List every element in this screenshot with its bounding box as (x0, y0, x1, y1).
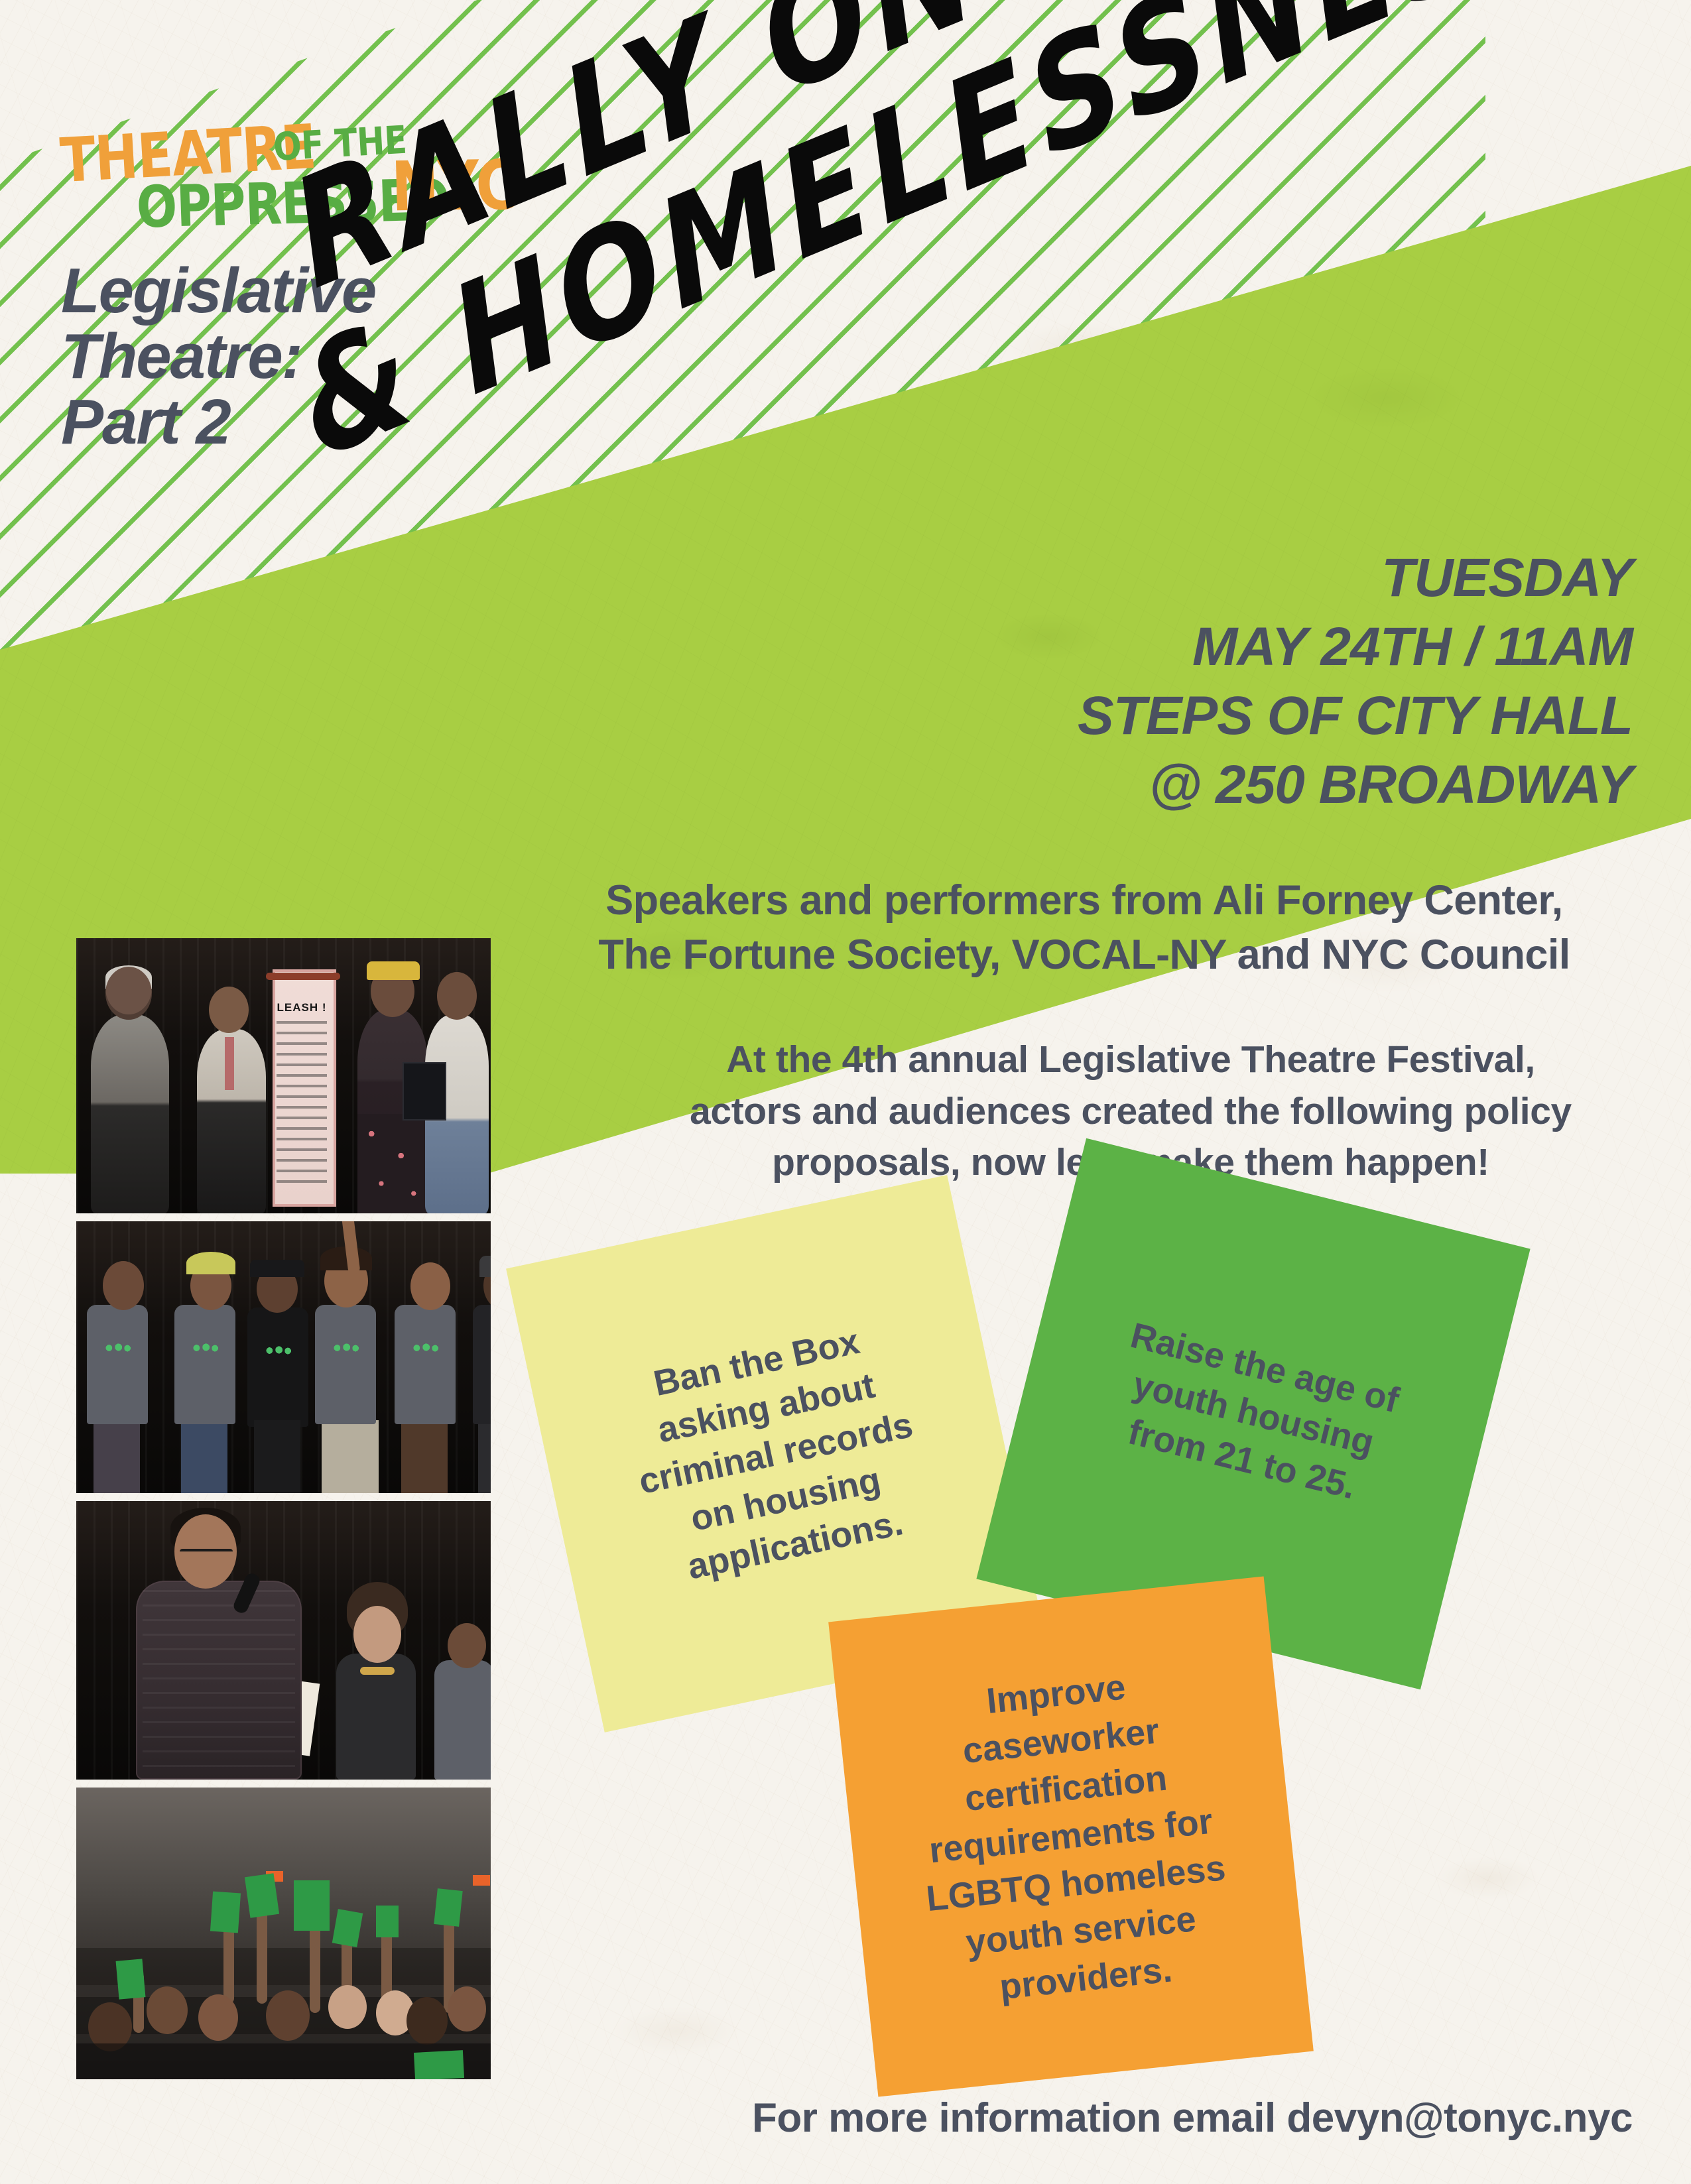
green-vote-card-7 (434, 1888, 462, 1927)
scroll-label-text: LEASH ! (275, 1001, 328, 1014)
event-address: @ 250 BROADWAY (1078, 751, 1633, 819)
speakers-blurb-line-1: Speakers and performers from Ali Forney … (524, 874, 1645, 928)
cast-a-legs (94, 1420, 140, 1493)
cast-e-tshirt (395, 1305, 456, 1424)
green-vote-card-4 (294, 1880, 330, 1931)
cast-d-legs (322, 1420, 379, 1493)
photo-audience-voting-green-cards (76, 1788, 491, 2079)
performer-b-head (209, 987, 249, 1033)
green-vote-card-2 (210, 1892, 241, 1933)
cast-c-legs (254, 1420, 300, 1493)
performer-c-gold-hat (367, 961, 420, 980)
speakers-blurb-line-2: The Fortune Society, VOCAL-NY and NYC Co… (524, 928, 1645, 983)
cast-a-tshirt (87, 1305, 148, 1424)
scroll-rod (266, 973, 340, 980)
audience-head-3 (198, 1994, 238, 2041)
event-date-time: MAY 24TH / 11AM (1078, 613, 1633, 682)
performer-d-head (437, 972, 477, 1020)
event-day: TUESDAY (1078, 544, 1633, 613)
cast-b-legs (181, 1420, 227, 1493)
photo-cast-in-tshirts (76, 1221, 491, 1493)
proposal-card-caseworker-certification[interactable]: Improve caseworker certification require… (828, 1576, 1314, 2096)
audience-member-1-head (353, 1606, 401, 1663)
cast-f-beanie (479, 1256, 491, 1277)
audience-head-2 (147, 1986, 188, 2034)
speakers-blurb: Speakers and performers from Ali Forney … (524, 874, 1645, 983)
audience-member-1-necklace (360, 1667, 395, 1675)
photo-performers-with-leash-scroll: LEASH ! (76, 938, 491, 1213)
photo-speaker-with-microphone (76, 1501, 491, 1780)
performer-c-floral-pants (357, 1114, 428, 1213)
performer-a-body (91, 1014, 169, 1213)
green-vote-card-foreground (414, 2050, 464, 2079)
green-vote-card-3 (245, 1873, 279, 1918)
cast-e-head (410, 1262, 450, 1310)
audience-head-7 (407, 1997, 448, 2045)
raised-arm-3 (257, 1904, 267, 2004)
audience-head-8 (448, 1986, 486, 2032)
audience-member-2-body (434, 1660, 491, 1780)
subtitle-line-3: Part 2 (61, 390, 538, 455)
green-vote-card-1 (116, 1959, 146, 1999)
performer-b-tie (225, 1037, 234, 1090)
event-details: TUESDAY MAY 24TH / 11AM STEPS OF CITY HA… (1078, 544, 1633, 820)
speaker-glasses (180, 1549, 233, 1561)
prop-book (403, 1062, 446, 1121)
cast-f-jacket (473, 1305, 491, 1424)
performer-a-head (105, 967, 152, 1020)
logo-word-nyc: NYC (391, 146, 518, 227)
cast-c-hoodie (247, 1307, 308, 1427)
cast-f-legs (478, 1420, 491, 1493)
festival-blurb-line-1: At the 4th annual Legislative Theatre Fe… (617, 1034, 1645, 1086)
cast-c-cap (250, 1260, 304, 1277)
poster-canvas: THEATRE OF THE OPPRESSED NYC Legislative… (0, 0, 1691, 2184)
speaker-puffer-jacket (136, 1581, 302, 1780)
cast-b-tshirt (174, 1305, 235, 1424)
cast-b-green-hair (186, 1252, 235, 1274)
green-vote-card-6 (376, 1906, 399, 1937)
logo-word-of-the: OF THE (272, 117, 408, 169)
audience-head-4 (266, 1990, 310, 2041)
exit-sign-right (473, 1875, 490, 1886)
audience-head-5 (328, 1985, 367, 2029)
cast-e-legs (401, 1420, 448, 1493)
subtitle-line-1: Legislative (61, 259, 538, 324)
audience-member-2-head (448, 1623, 486, 1668)
program-subtitle: Legislative Theatre: Part 2 (61, 259, 538, 455)
event-venue: STEPS OF CITY HALL (1078, 682, 1633, 751)
contact-footer[interactable]: For more information email devyn@tonyc.n… (0, 2094, 1633, 2142)
cast-d-tshirt (315, 1305, 376, 1424)
cast-a-head (103, 1261, 144, 1310)
photo-strip: LEASH ! (76, 938, 491, 2087)
festival-blurb-line-2: actors and audiences created the followi… (617, 1086, 1645, 1138)
scroll-written-lines (277, 1021, 327, 1187)
subtitle-line-2: Theatre: (61, 324, 538, 390)
